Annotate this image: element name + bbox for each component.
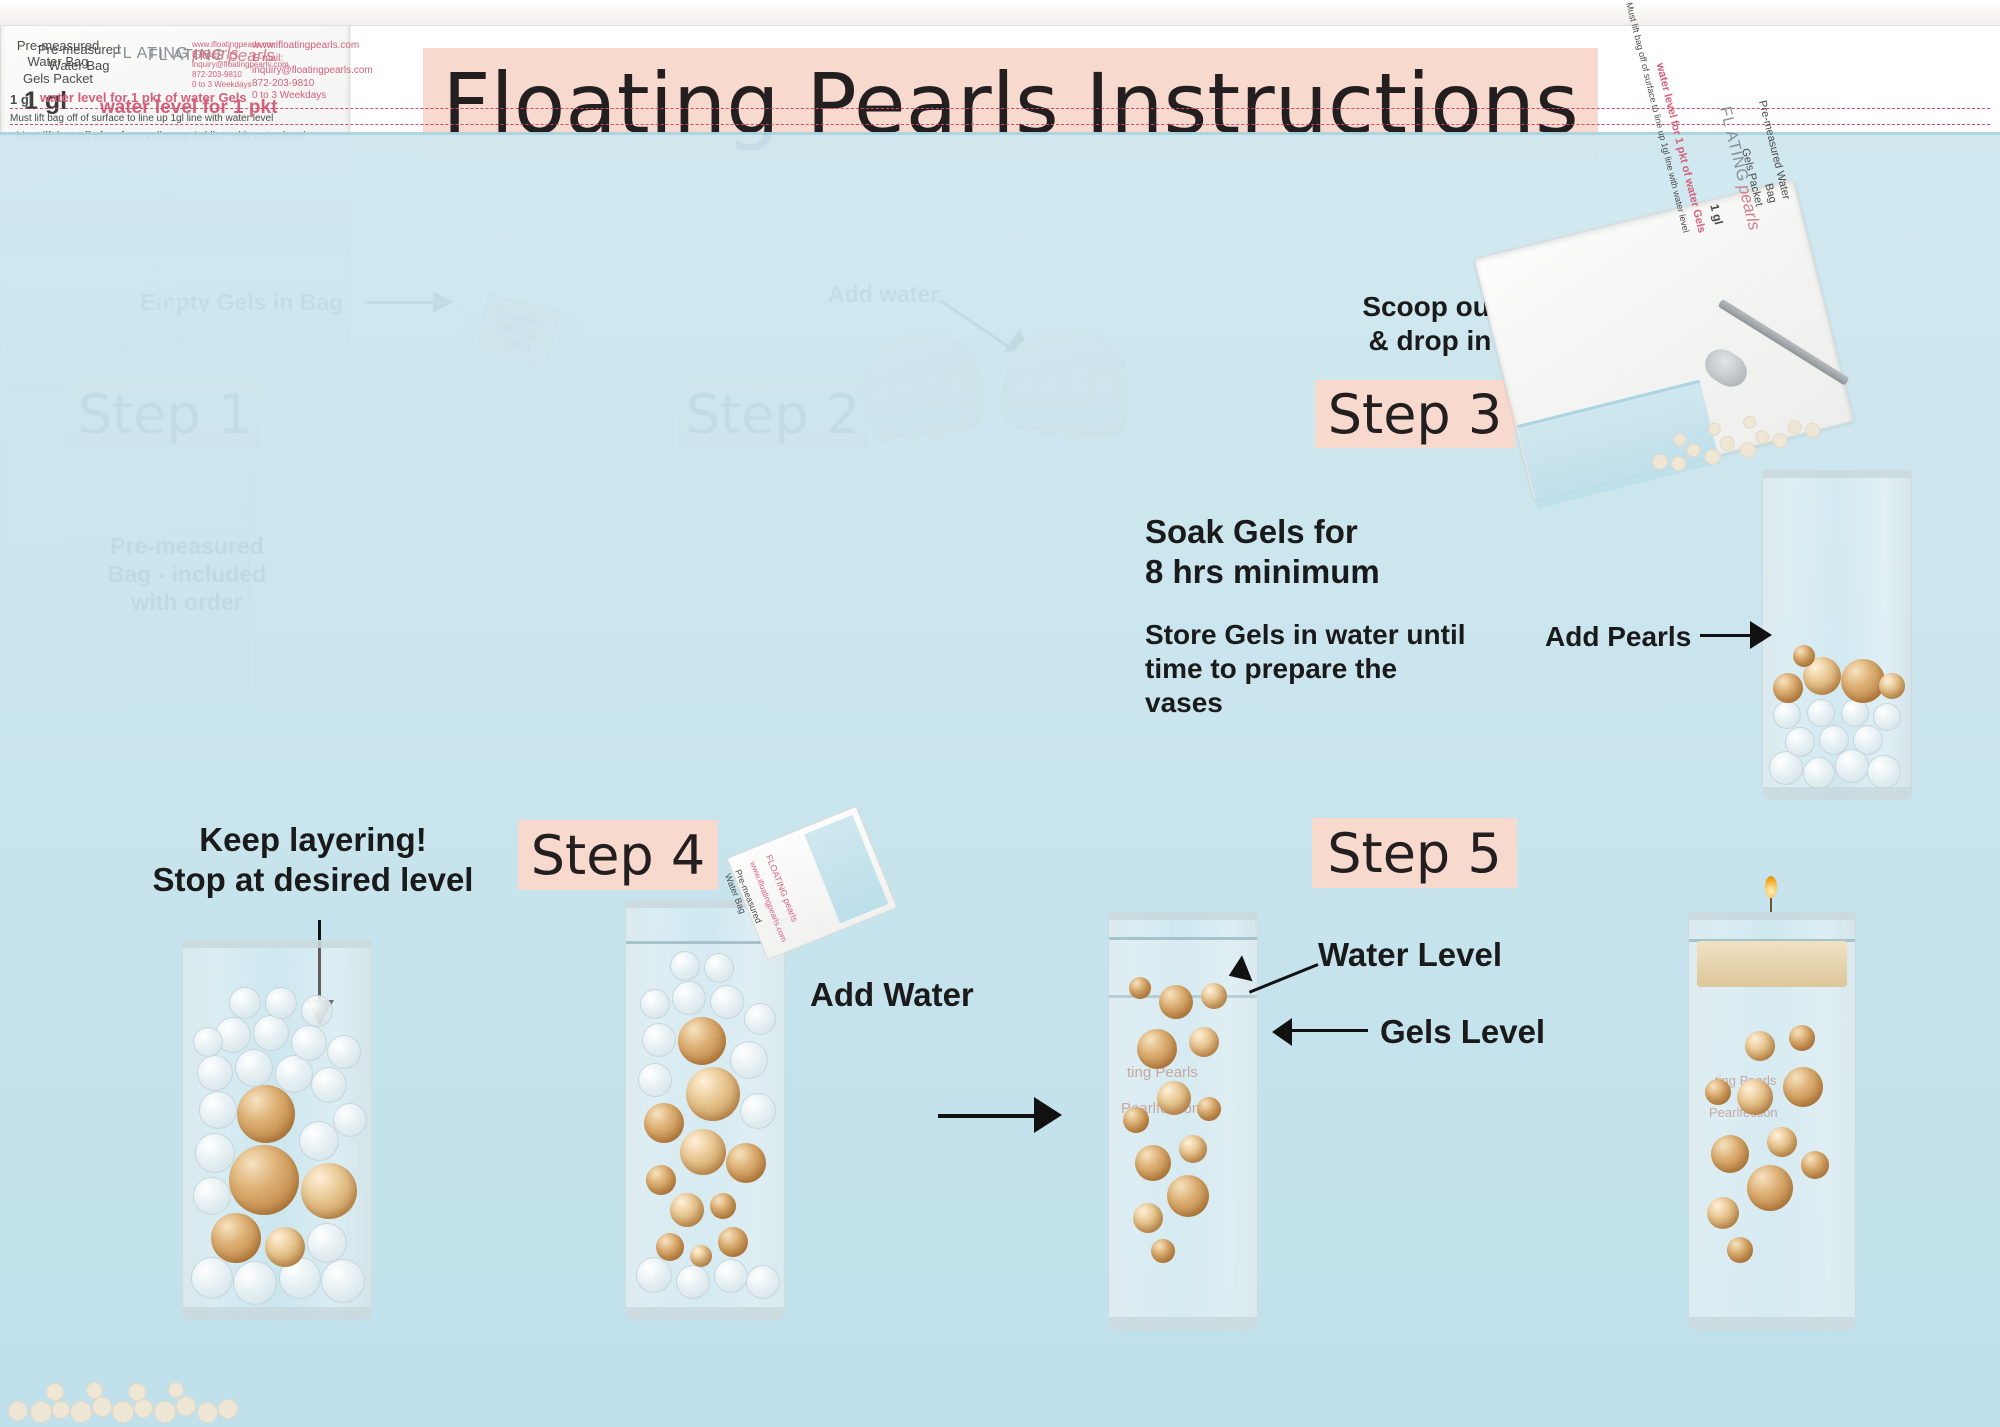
- arrow-water-level: [1222, 932, 1322, 984]
- label-soak-gels: Soak Gels for8 hrs minimum: [1145, 512, 1425, 593]
- bag-gels-pile-step2: [0, 1363, 2000, 1423]
- vase-rim-final: [1689, 913, 1855, 920]
- vase-base-step3: [1763, 787, 1911, 799]
- spoon-bowl: [1699, 343, 1753, 393]
- bag-size-step2: 1 gl: [10, 92, 32, 108]
- step-4-chip-label: Step 4: [531, 824, 705, 887]
- label-keep-layering: Keep layering!Stop at desired level: [118, 820, 508, 901]
- label-store-gels: Store Gels in water untiltime to prepare…: [1145, 618, 1475, 720]
- vase-final: ting Pearls Pearlfection: [1688, 912, 1856, 1330]
- vase-rim-layered: [183, 941, 371, 948]
- vase-step3: [1762, 470, 1912, 800]
- bag-brand-floating-2: FL ATING: [112, 45, 189, 63]
- label-add-pearls: Add Pearls: [1545, 620, 1695, 654]
- vase-rim-step5: [1109, 913, 1257, 920]
- vase-rim-step3: [1763, 471, 1911, 478]
- label-add-water-step4: Add Water: [810, 975, 1020, 1015]
- label-gels-level: Gels Level: [1380, 1012, 1600, 1052]
- bag-mustlift-step2: Must lift bag off of surface to line up …: [10, 113, 273, 126]
- step-5-chip: Step 5: [1312, 818, 1517, 888]
- arrow-step4-to-step5: [938, 1090, 1068, 1140]
- bag-waterlevel-step2: water level for 1 pkt of water Gels: [40, 90, 247, 106]
- bag-contact-step2: www.ifloatingpearls.com E-mail: inquiry@…: [192, 40, 252, 90]
- step-3-chip: Step 3: [1315, 380, 1515, 448]
- step-4-chip: Step 4: [518, 820, 718, 890]
- vase-base-final: [1689, 1317, 1855, 1329]
- floating-candle: [1697, 941, 1847, 987]
- vase-step4: [625, 900, 785, 1320]
- vase-base-step4: [626, 1307, 784, 1319]
- arrow-add-pearls: [1700, 618, 1780, 652]
- bag-size-step3: 1 gl: [1707, 203, 1727, 227]
- vase-layered: [182, 940, 372, 1320]
- water-bag-step2: Pre-measured Water Bag Gels Packet FL AT…: [0, 390, 250, 690]
- step-5-chip-label: Step 5: [1327, 822, 1501, 885]
- candle-flame: [1765, 876, 1777, 898]
- bag-top-strip-2: [0, 0, 2000, 26]
- candle-wick: [1770, 898, 1772, 912]
- vase-base-layered: [183, 1307, 371, 1319]
- spoon: [1700, 290, 1900, 430]
- label-water-level: Water Level: [1318, 935, 1558, 975]
- bag-dashed-line-step2: [10, 108, 1990, 109]
- arrow-gels-level: [1272, 1012, 1372, 1052]
- step-3-chip-label: Step 3: [1328, 383, 1502, 446]
- bag-premeasured-step2: Pre-measured Water Bag Gels Packet: [8, 38, 108, 87]
- vase-base-step5: [1109, 1317, 1257, 1329]
